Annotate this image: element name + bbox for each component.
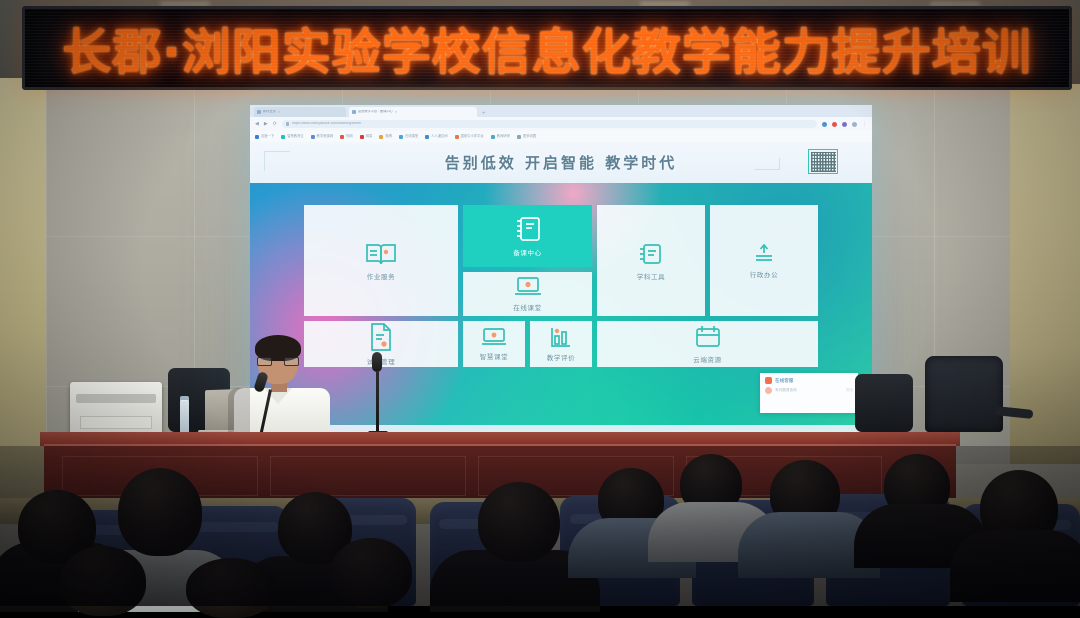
decorative-bracket bbox=[264, 151, 290, 171]
bookmark-label: 在线课堂 bbox=[405, 135, 418, 138]
side-chair bbox=[855, 374, 913, 432]
customer-service-popup[interactable]: 在线客服 有问题请咨询 关闭 bbox=[760, 373, 858, 413]
training-room: 长郡·浏阳实验学校信息化教学能力提升培训 新标签页 × 智慧教学平台 - 备课中… bbox=[0, 0, 1080, 606]
service-badge-icon bbox=[765, 377, 772, 384]
bookmark-label: 教师研修 bbox=[497, 135, 510, 138]
reload-icon[interactable]: ⟳ bbox=[273, 122, 277, 127]
module-card-label: 智慧课堂 bbox=[480, 351, 508, 361]
book-icon bbox=[364, 241, 398, 267]
decorative-bracket bbox=[754, 158, 780, 170]
bookmark-label: 教学资源网 bbox=[317, 135, 333, 138]
extension-red-icon[interactable] bbox=[832, 122, 837, 127]
bookmark-label: 更多收藏 bbox=[523, 135, 536, 138]
tab-title: 智慧教学平台 - 备课中心 bbox=[358, 110, 393, 113]
bookmark-icon bbox=[360, 135, 364, 139]
cloud-icon bbox=[752, 243, 776, 265]
bookmark-label: 人人通空间 bbox=[431, 135, 447, 138]
module-card-label: 在线课堂 bbox=[513, 302, 541, 312]
module-card-homework[interactable]: 作业服务 bbox=[304, 205, 458, 316]
qr-code-pattern bbox=[811, 152, 836, 172]
bookmark-icon bbox=[255, 135, 259, 139]
browser-tab[interactable]: 新标签页 × bbox=[254, 107, 346, 117]
audience-member-head bbox=[330, 538, 412, 608]
browser-tab-active[interactable]: 智慧教学平台 - 备课中心 × bbox=[349, 107, 477, 117]
bookmark-item[interactable]: 知网 bbox=[340, 135, 353, 139]
module-card-label: 备课中心 bbox=[513, 247, 541, 257]
module-card-evaluation[interactable]: 教学评价 bbox=[530, 321, 592, 367]
menu-icon[interactable]: ⋮ bbox=[862, 122, 867, 127]
popup-message-row: 有问题请咨询 关闭 bbox=[765, 387, 853, 394]
address-value: https://www.zhihuijiaoxue.com/teaching/c… bbox=[292, 122, 361, 125]
printer-output-tray bbox=[80, 416, 152, 429]
module-card-label: 云端资源 bbox=[693, 354, 721, 364]
led-banner: 长郡·浏阳实验学校信息化教学能力提升培训 bbox=[22, 6, 1072, 90]
module-card-pair: 智慧课堂 教学评价 bbox=[463, 321, 592, 367]
bookmark-item[interactable]: 微博 bbox=[379, 135, 392, 139]
clipboard-icon bbox=[638, 241, 664, 267]
monitor-icon bbox=[481, 327, 507, 347]
module-card-label: 学科工具 bbox=[637, 271, 665, 281]
avatar bbox=[765, 387, 772, 394]
bookmark-label: 国家中小学平台 bbox=[461, 135, 484, 138]
module-card-smart-class[interactable]: 智慧课堂 bbox=[463, 321, 525, 367]
tab-title: 新标签页 bbox=[263, 110, 276, 113]
address-bar[interactable]: https://www.zhihuijiaoxue.com/teaching/c… bbox=[282, 120, 817, 128]
module-card-admin[interactable]: 行政办公 bbox=[710, 205, 818, 316]
audience-area bbox=[0, 446, 1080, 606]
bookmark-icon bbox=[425, 135, 429, 139]
popup-close-label[interactable]: 关闭 bbox=[846, 388, 853, 393]
bookmark-item[interactable]: 网易 bbox=[360, 135, 373, 139]
bookmark-icon bbox=[455, 135, 459, 139]
module-grid: 作业服务 试卷管理 bbox=[304, 205, 818, 417]
page-headline: 告别低效 开启智能 教学时代 bbox=[445, 152, 677, 173]
browser-tabstrip: 新标签页 × 智慧教学平台 - 备课中心 × + bbox=[250, 105, 872, 117]
glasses-icon bbox=[284, 357, 299, 366]
popup-message: 有问题请咨询 bbox=[775, 388, 797, 393]
module-card-online-class[interactable]: 在线课堂 bbox=[463, 272, 592, 316]
led-banner-text: 长郡·浏阳实验学校信息化教学能力提升培训 bbox=[62, 13, 1032, 84]
bookmark-icon bbox=[517, 135, 521, 139]
bookmark-label: 智慧教育云 bbox=[287, 135, 303, 138]
bookmark-icon bbox=[311, 135, 315, 139]
back-icon[interactable]: ◀ bbox=[255, 122, 259, 127]
bookmark-icon bbox=[379, 135, 383, 139]
profile-avatar[interactable] bbox=[852, 122, 857, 127]
audience-member-head bbox=[186, 558, 276, 618]
office-chair bbox=[925, 356, 1003, 432]
bookmark-label: 百度一下 bbox=[261, 135, 274, 138]
bookmark-icon bbox=[491, 135, 495, 139]
dashboard: 作业服务 试卷管理 bbox=[250, 183, 872, 435]
bookmark-item[interactable]: 国家中小学平台 bbox=[455, 135, 484, 139]
browser-window: 新标签页 × 智慧教学平台 - 备课中心 × + ◀ ▶ ⟳ https://w… bbox=[250, 105, 872, 435]
glasses-icon bbox=[257, 357, 272, 366]
close-icon[interactable]: × bbox=[278, 110, 280, 114]
microphone-head bbox=[372, 352, 382, 372]
audience-member-body bbox=[950, 530, 1080, 602]
laptop-icon bbox=[514, 276, 542, 298]
bookmark-label: 网易 bbox=[366, 135, 373, 138]
popup-title: 在线客服 bbox=[775, 378, 793, 384]
forward-icon[interactable]: ▶ bbox=[264, 122, 268, 127]
bookmark-item[interactable]: 教师研修 bbox=[491, 135, 510, 139]
favicon-icon bbox=[352, 110, 356, 114]
qr-code[interactable] bbox=[808, 149, 838, 174]
projection-screen: 新标签页 × 智慧教学平台 - 备课中心 × + ◀ ▶ ⟳ https://w… bbox=[250, 105, 872, 435]
module-card-cloud-resource[interactable]: 云端资源 bbox=[597, 321, 818, 367]
bookmarks-bar: 百度一下 智慧教育云 教学资源网 知网 网易 微博 在线课堂 人人通空间 国家中… bbox=[250, 131, 872, 142]
page-header: 告别低效 开启智能 教学时代 bbox=[250, 142, 872, 183]
water-bottle bbox=[180, 400, 189, 436]
extension-purple-icon[interactable] bbox=[842, 122, 847, 127]
printer-paper-slot bbox=[76, 394, 156, 403]
notebook-icon bbox=[514, 215, 542, 243]
microphone-stem bbox=[376, 371, 379, 433]
document-icon bbox=[368, 322, 394, 352]
bookmark-item[interactable]: 百度一下 bbox=[255, 135, 274, 139]
close-icon[interactable]: × bbox=[395, 110, 397, 114]
bookmark-icon bbox=[281, 135, 285, 139]
module-card-lesson-prep[interactable]: 备课中心 bbox=[463, 205, 592, 267]
module-card-label: 教学评价 bbox=[547, 352, 575, 362]
bookmark-icon bbox=[399, 135, 403, 139]
module-card-subject-tools[interactable]: 学科工具 bbox=[597, 205, 705, 316]
browser-toolbar: ◀ ▶ ⟳ https://www.zhihuijiaoxue.com/teac… bbox=[250, 117, 872, 131]
bookmark-icon bbox=[340, 135, 344, 139]
led-banner-glow bbox=[22, 86, 1072, 102]
bookmark-label: 微博 bbox=[385, 135, 392, 138]
printer bbox=[70, 382, 162, 438]
presenter bbox=[228, 338, 336, 438]
calendar-icon bbox=[693, 324, 723, 350]
module-card-label: 行政办公 bbox=[750, 269, 778, 279]
bookmark-item[interactable]: 教学资源网 bbox=[311, 135, 333, 139]
bookmark-item[interactable]: 更多收藏 bbox=[517, 135, 536, 139]
right-wall bbox=[1010, 84, 1080, 464]
popup-header: 在线客服 bbox=[765, 377, 853, 384]
audience-member-head bbox=[478, 482, 560, 562]
extension-blue-icon[interactable] bbox=[822, 122, 827, 127]
bookmark-item[interactable]: 人人通空间 bbox=[425, 135, 447, 139]
bookmark-item[interactable]: 在线课堂 bbox=[399, 135, 418, 139]
favicon-icon bbox=[257, 110, 261, 114]
audience-member-head bbox=[118, 468, 202, 556]
bookmark-label: 知网 bbox=[346, 135, 353, 138]
bookmark-item[interactable]: 智慧教育云 bbox=[281, 135, 303, 139]
chart-icon bbox=[548, 326, 574, 348]
lock-icon bbox=[286, 122, 289, 126]
module-card-label: 作业服务 bbox=[367, 271, 395, 281]
